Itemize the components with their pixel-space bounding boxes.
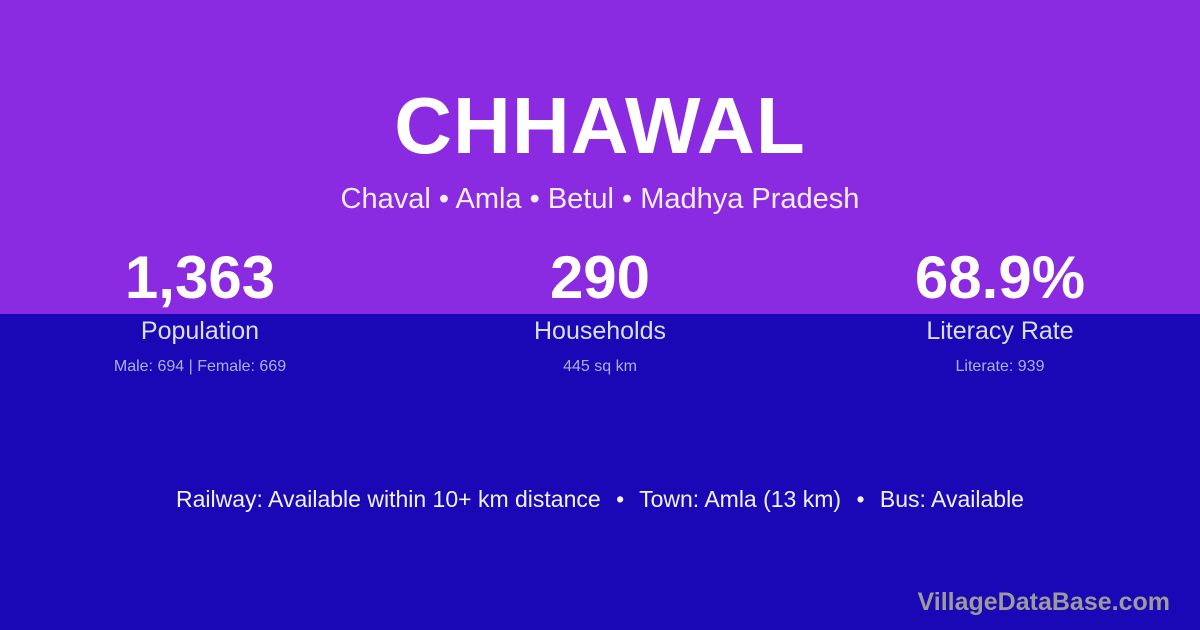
village-title: CHHAWAL	[0, 86, 1200, 166]
site-watermark: VillageDataBase.com	[918, 589, 1170, 617]
stat-households: 290 Households 445 sq km	[400, 248, 800, 375]
location-breadcrumb: Chaval • Amla • Betul • Madhya Pradesh	[0, 182, 1200, 217]
card-content: CHHAWAL Chaval • Amla • Betul • Madhya P…	[0, 0, 1200, 630]
facility-bus: Bus: Available	[880, 486, 1024, 512]
facilities-line: Railway: Available within 10+ km distanc…	[0, 486, 1200, 514]
facility-separator-2: •	[847, 486, 873, 512]
stat-value: 1,363	[0, 248, 400, 308]
facility-railway: Railway: Available within 10+ km distanc…	[176, 486, 601, 512]
stats-row: 1,363 Population Male: 694 | Female: 669…	[0, 248, 1200, 375]
stat-label: Literacy Rate	[800, 318, 1200, 346]
stat-population: 1,363 Population Male: 694 | Female: 669	[0, 248, 400, 375]
stat-label: Households	[400, 318, 800, 346]
stat-value: 68.9%	[800, 248, 1200, 308]
stat-sub-detail: 445 sq km	[400, 358, 800, 376]
facility-separator-1: •	[607, 486, 633, 512]
stat-value: 290	[400, 248, 800, 308]
stat-literacy-rate: 68.9% Literacy Rate Literate: 939	[800, 248, 1200, 375]
stat-label: Population	[0, 318, 400, 346]
village-info-card: CHHAWAL Chaval • Amla • Betul • Madhya P…	[0, 0, 1200, 630]
stat-sub-detail: Literate: 939	[800, 358, 1200, 376]
stat-sub-detail: Male: 694 | Female: 669	[0, 358, 400, 376]
facility-town: Town: Amla (13 km)	[639, 486, 841, 512]
